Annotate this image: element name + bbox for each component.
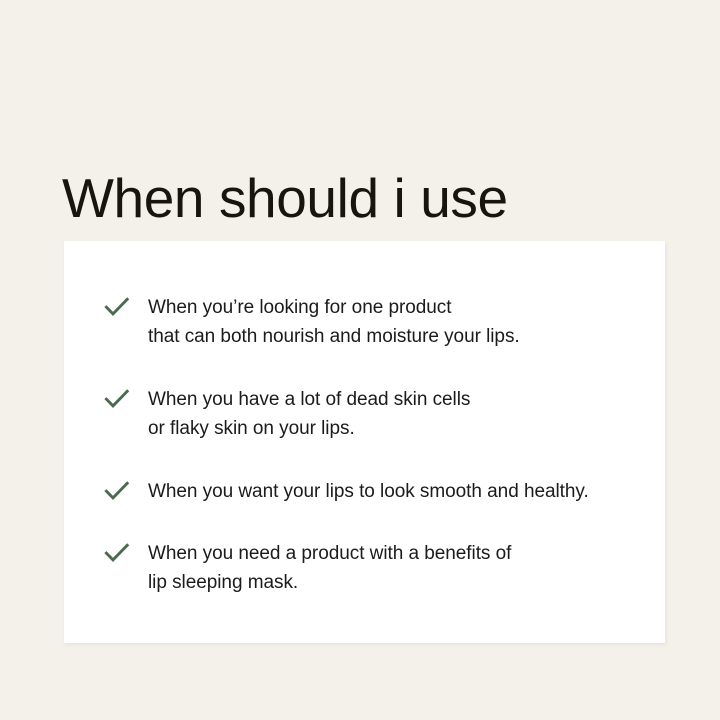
promo-page: When should i use daily lip mask balm? W… bbox=[0, 0, 720, 720]
list-item-label: When you have a lot of dead skin cells o… bbox=[148, 385, 470, 443]
check-icon bbox=[104, 388, 130, 410]
check-icon bbox=[104, 542, 130, 564]
list-item: When you want your lips to look smooth a… bbox=[104, 477, 589, 506]
list-item-label: When you want your lips to look smooth a… bbox=[148, 477, 589, 506]
list-item-label: When you’re looking for one product that… bbox=[148, 293, 520, 351]
check-icon bbox=[104, 296, 130, 318]
check-icon bbox=[104, 480, 130, 502]
list-item: When you have a lot of dead skin cells o… bbox=[104, 385, 470, 443]
page-title-line-1: When should i use bbox=[62, 170, 662, 226]
list-item-label: When you need a product with a benefits … bbox=[148, 539, 511, 597]
list-item: When you need a product with a benefits … bbox=[104, 539, 511, 597]
list-item: When you’re looking for one product that… bbox=[104, 293, 520, 351]
benefits-card: When you’re looking for one product that… bbox=[64, 241, 665, 643]
